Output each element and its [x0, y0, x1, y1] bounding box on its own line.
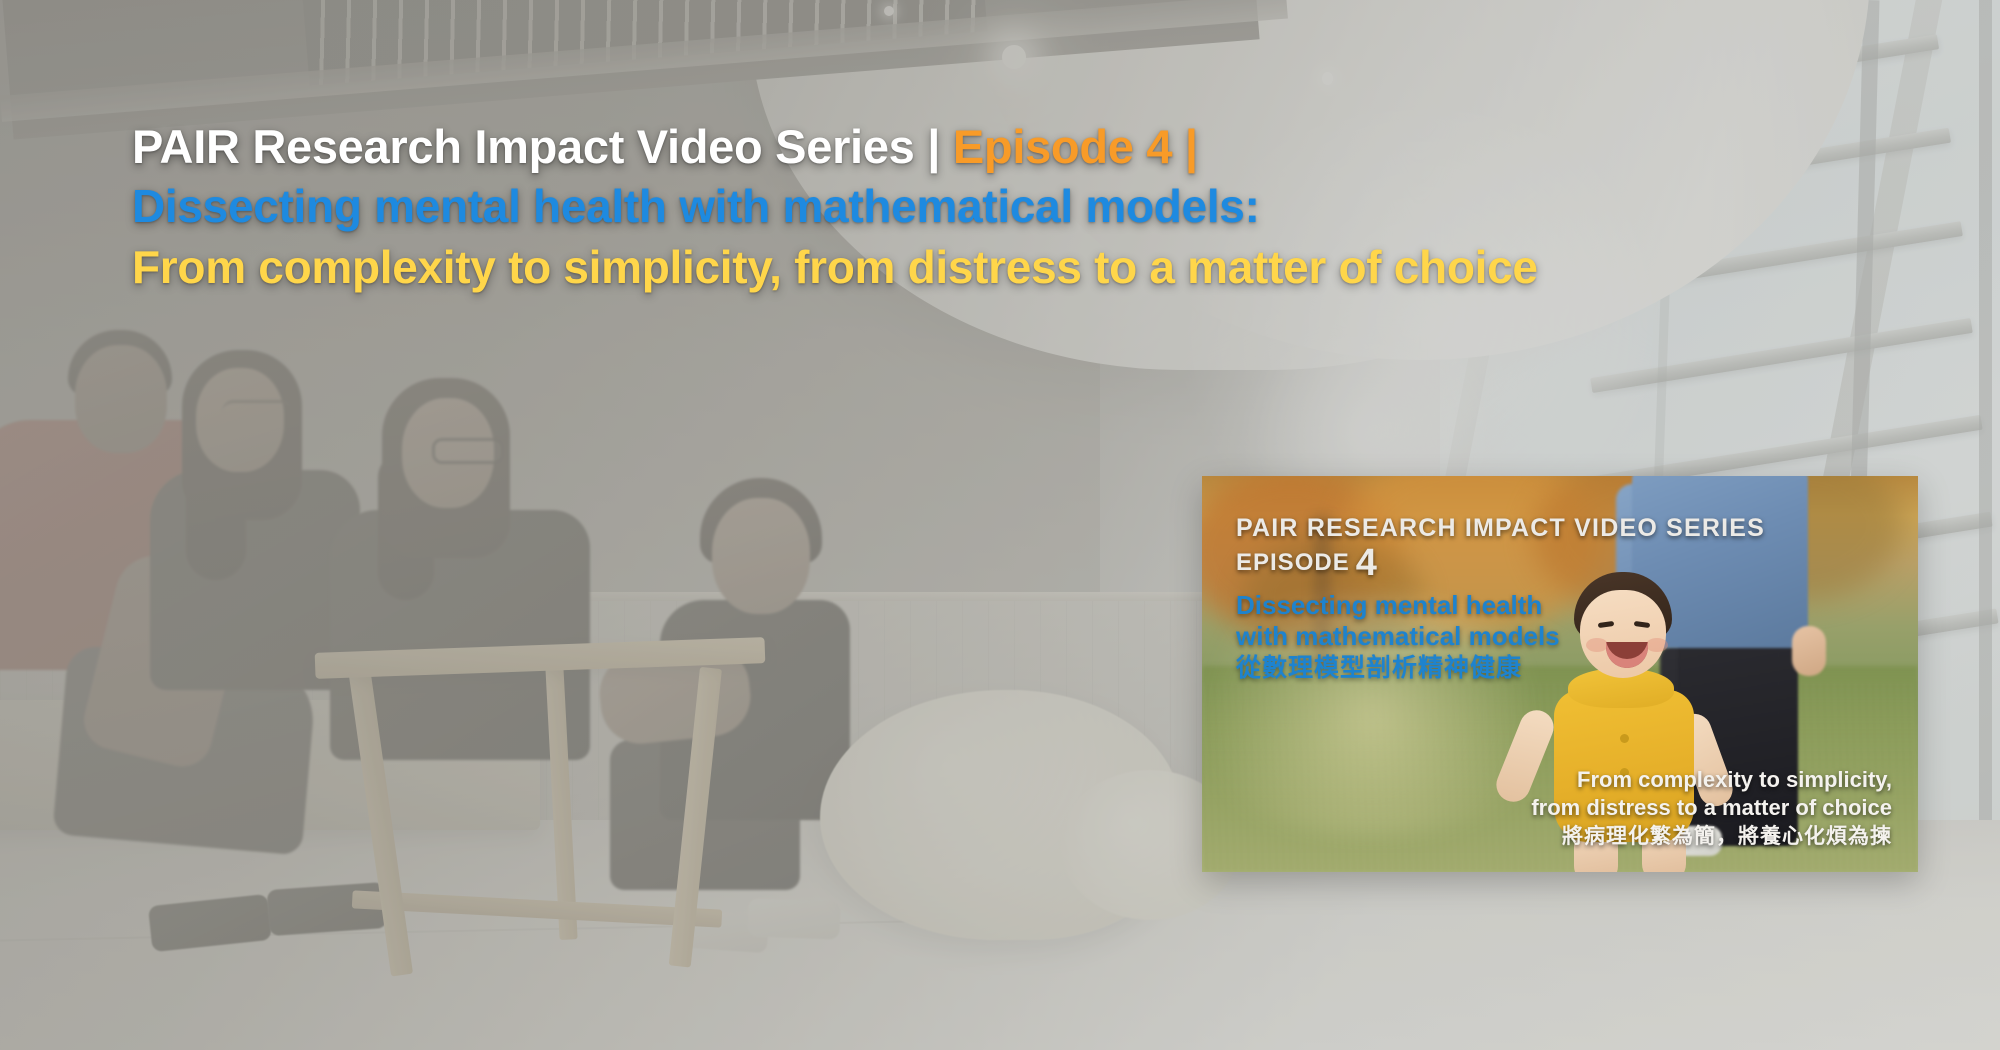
thumbnail-episode-label: EPISODE [1236, 549, 1350, 576]
thumbnail-tagline-en-line1: From complexity to simplicity, [1332, 766, 1892, 794]
thumbnail-episode-number: 4 [1356, 542, 1378, 584]
video-thumbnail[interactable]: PAIR RESEARCH IMPACT VIDEO SERIES EPISOD… [1202, 476, 1918, 872]
headline-series-text: PAIR Research Impact Video Series | [132, 120, 953, 173]
headline-episode-text: Episode 4 | [953, 120, 1198, 173]
headline-line-2: Dissecting mental health with mathematic… [132, 176, 1952, 236]
headline-block: PAIR Research Impact Video Series | Epis… [132, 118, 1952, 298]
headline-line-3: From complexity to simplicity, from dist… [132, 236, 1952, 298]
thumbnail-title-en-line2: with mathematical models [1236, 621, 1896, 652]
thumbnail-tagline-block: From complexity to simplicity, from dist… [1332, 766, 1892, 852]
thumbnail-tagline-en-line2: from distress to a matter of choice [1332, 794, 1892, 822]
slide-stage: PAIR Research Impact Video Series | Epis… [0, 0, 2000, 1050]
thumbnail-title-en-line1: Dissecting mental health [1236, 590, 1896, 621]
thumbnail-text-block: PAIR RESEARCH IMPACT VIDEO SERIES EPISOD… [1236, 512, 1896, 684]
thumbnail-episode-line: EPISODE4 [1236, 546, 1896, 580]
thumbnail-title-zh: 從數理模型剖析精神健康 [1236, 652, 1896, 684]
thumbnail-series-label: PAIR RESEARCH IMPACT VIDEO SERIES [1236, 512, 1896, 544]
headline-line-1: PAIR Research Impact Video Series | Epis… [132, 118, 1952, 176]
thumbnail-tagline-zh: 將病理化繁為簡，將養心化煩為揀 [1332, 822, 1892, 852]
